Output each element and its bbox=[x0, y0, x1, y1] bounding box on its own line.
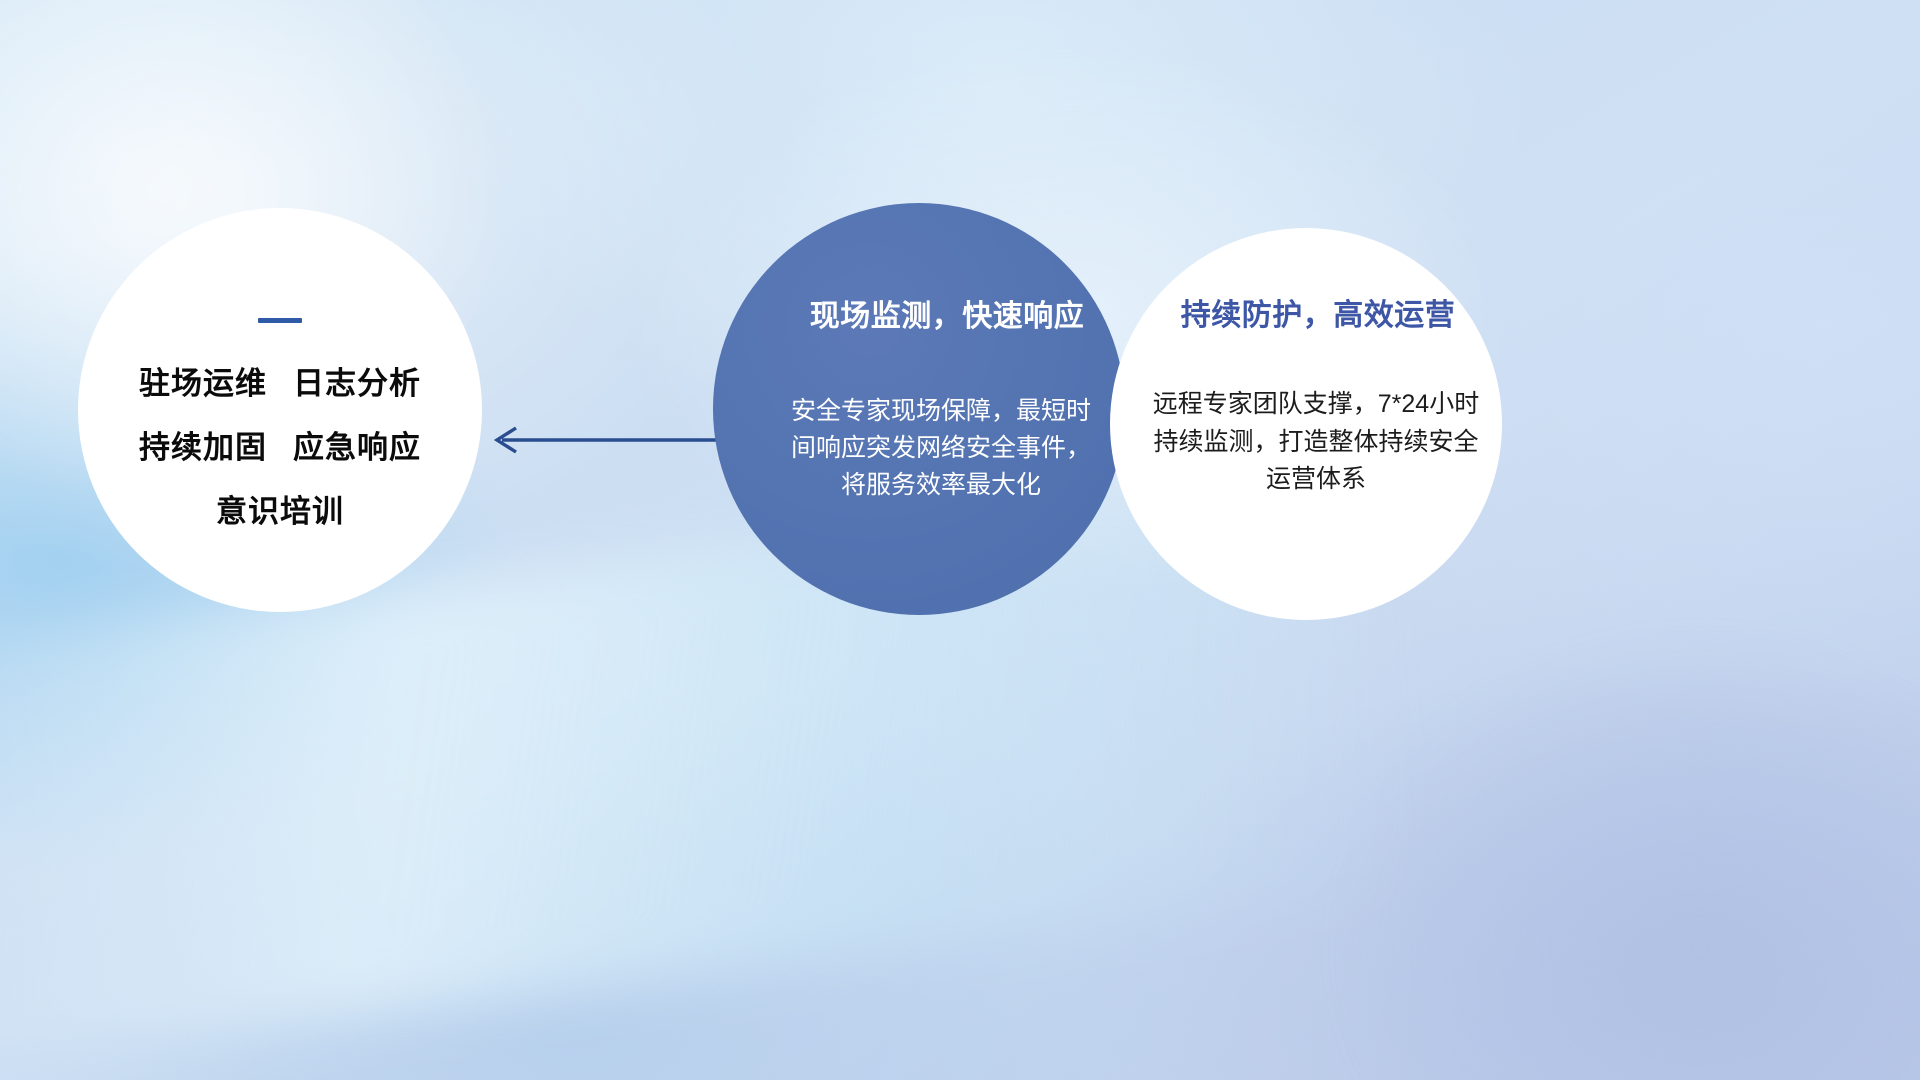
onsite-monitoring-circle: 现场监测，快速响应 安全专家现场保障，最短时间响应突发网络安全事件，将服务效率最… bbox=[713, 203, 1125, 615]
list-item: 意识培训 bbox=[139, 496, 421, 527]
service-keyword: 意识培训 bbox=[216, 494, 344, 529]
onsite-monitoring-body: 安全专家现场保障，最短时间响应突发网络安全事件，将服务效率最大化 bbox=[791, 393, 1091, 504]
service-keyword: 应急响应 bbox=[293, 430, 421, 465]
service-keyword: 持续加固 bbox=[139, 430, 267, 465]
list-item: 持续加固应急响应 bbox=[139, 432, 421, 463]
service-keyword: 驻场运维 bbox=[139, 366, 267, 401]
continuous-protection-body: 远程专家团队支撑，7*24小时持续监测，打造整体持续安全运营体系 bbox=[1142, 386, 1490, 499]
service-keyword-list: 驻场运维日志分析 持续加固应急响应 意识培训 bbox=[139, 368, 421, 527]
background-glow-bottom-right bbox=[1320, 620, 1920, 1080]
continuous-protection-title: 持续防护，高效运营 bbox=[1181, 290, 1456, 334]
driving-services-circle: 驻场运维日志分析 持续加固应急响应 意识培训 bbox=[78, 208, 482, 612]
continuous-protection-circle: 持续防护，高效运营 远程专家团队支撑，7*24小时持续监测，打造整体持续安全运营… bbox=[1110, 228, 1502, 620]
onsite-monitoring-title: 现场监测，快速响应 bbox=[810, 291, 1085, 335]
divider-dash bbox=[258, 318, 302, 323]
list-item: 驻场运维日志分析 bbox=[139, 368, 421, 399]
slide-canvas: 驻场运维日志分析 持续加固应急响应 意识培训 现场监测，快速响应 安全专家现场保… bbox=[0, 0, 1920, 1080]
flow-arrow bbox=[480, 412, 730, 468]
service-keyword: 日志分析 bbox=[293, 366, 421, 401]
